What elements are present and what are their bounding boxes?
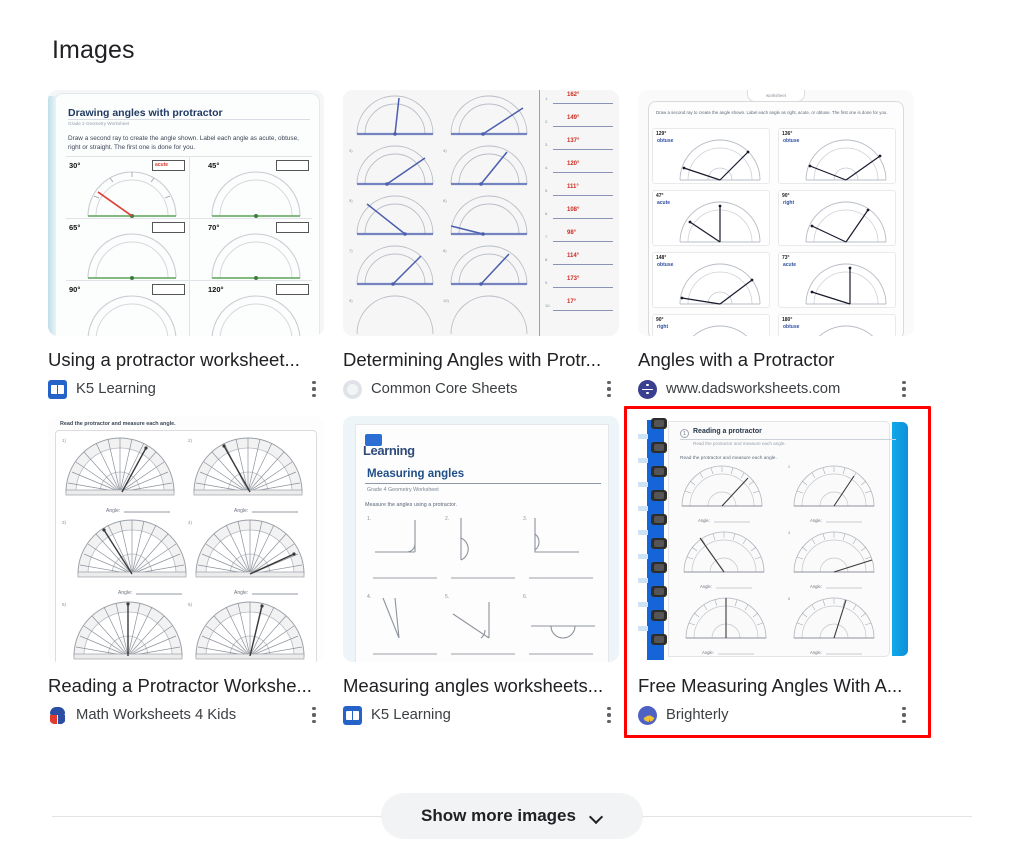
image-card-using-a-protractor-worksheet[interactable]: Drawing angles with protractor Grade 3 G…	[48, 90, 324, 400]
image-title[interactable]: Reading a Protractor Workshe...	[48, 675, 324, 697]
image-card-reading-a-protractor-worksheet[interactable]: Read the protractor and measure each ang…	[48, 416, 324, 726]
image-source-name[interactable]: Math Worksheets 4 Kids	[76, 707, 236, 723]
protractor-figure	[676, 324, 764, 336]
svg-text:5): 5)	[62, 602, 67, 607]
svg-text:5: 5	[680, 596, 681, 601]
thumbnail-heading: Reading a protractor	[693, 428, 762, 435]
image-source-row: Brighterly	[638, 704, 914, 726]
angle-classification: obtuse	[783, 138, 799, 144]
image-card-measuring-angles-worksheets[interactable]: Learning Measuring angles Grade 4 Geomet…	[343, 416, 619, 726]
angle-classification: acute	[783, 262, 796, 268]
show-more-images-button[interactable]: Show more images	[381, 793, 643, 839]
answer-value: 162°	[567, 92, 579, 98]
svg-text:Angle:: Angle:	[702, 650, 714, 655]
image-title[interactable]: Determining Angles with Protr...	[343, 349, 619, 371]
protractor-figure	[802, 262, 890, 306]
exercise-number-badge: 1	[680, 429, 689, 438]
protractor-figure	[802, 324, 890, 336]
more-options-icon[interactable]	[894, 705, 914, 725]
svg-text:3: 3	[680, 530, 681, 535]
angle-label: 136°	[782, 131, 792, 137]
image-source-name[interactable]: K5 Learning	[76, 381, 156, 397]
angle-label: 90°	[782, 193, 790, 199]
image-source-row: Common Core Sheets	[343, 378, 619, 400]
protractor-figure	[676, 138, 764, 182]
protractor-figure	[84, 168, 180, 218]
common-core-sheets-favicon	[343, 380, 362, 399]
answer-value: 108°	[567, 207, 579, 213]
image-thumbnail[interactable]: 3)4) 5)6) 7)8) 9)10) 1. 162°	[343, 90, 619, 336]
show-more-label: Show more images	[421, 806, 576, 826]
answer-value: 17°	[567, 299, 576, 305]
thumbnail-subheading: Grade 3 Geometry Worksheet	[68, 121, 129, 126]
chevron-down-icon	[590, 810, 603, 823]
image-title[interactable]: Using a protractor worksheet...	[48, 349, 324, 371]
protractor-figure	[802, 200, 890, 244]
thumbnail-instructions: Measure the angles using a protractor.	[365, 502, 457, 508]
svg-text:3): 3)	[349, 148, 353, 153]
image-title[interactable]: Measuring angles worksheets...	[343, 675, 619, 697]
math-worksheets-4-kids-favicon	[48, 706, 67, 725]
image-source-name[interactable]: Brighterly	[666, 707, 729, 723]
angle-label: 148°	[656, 255, 666, 261]
angle-label: 129°	[656, 131, 666, 137]
svg-text:Angle:: Angle:	[810, 584, 822, 589]
angle-classification: acute	[657, 200, 670, 206]
image-title[interactable]: Free Measuring Angles With A...	[638, 675, 914, 697]
brighterly-favicon	[638, 706, 657, 725]
svg-text:1.: 1.	[367, 516, 371, 522]
images-results-page: Images Drawing angles with protractor Gr…	[0, 0, 1024, 845]
more-options-icon[interactable]	[304, 705, 324, 725]
svg-text:10): 10)	[443, 298, 449, 303]
angle-classification: right	[657, 324, 668, 330]
image-source-row: Math Worksheets 4 Kids	[48, 704, 324, 726]
show-more-section: Show more images	[0, 793, 1024, 843]
thumbnail-subheading: Read the protractor and measure each ang…	[693, 441, 786, 446]
svg-text:6): 6)	[443, 198, 447, 203]
image-source-name[interactable]: K5 Learning	[371, 707, 451, 723]
thumbnail-heading: Drawing angles with protractor	[68, 107, 223, 119]
k5-learning-favicon	[48, 380, 67, 399]
angle-label: 180°	[782, 317, 792, 323]
answer-value: 98°	[567, 230, 576, 236]
protractor-figure	[208, 230, 304, 280]
image-source-row: K5 Learning	[343, 704, 619, 726]
image-thumbnail[interactable]: worksheet Draw a second ray to create th…	[638, 90, 914, 336]
svg-text:5.: 5.	[445, 594, 449, 600]
svg-text:Angle:: Angle:	[810, 518, 822, 523]
protractor-figures: 3)4) 5)6) 7)8) 9)10)	[347, 92, 537, 336]
svg-text:4: 4	[788, 530, 791, 535]
svg-text:2.: 2.	[445, 516, 449, 522]
angle-label: 73°	[782, 255, 790, 261]
thumbnail-instructions: Read the protractor and measure each ang…	[680, 456, 777, 461]
more-options-icon[interactable]	[599, 379, 619, 399]
svg-text:2): 2)	[188, 438, 193, 443]
protractor-figure	[676, 262, 764, 306]
angle-label: 30°	[69, 161, 80, 170]
angle-classification: obtuse	[783, 324, 799, 330]
angle-label: 47°	[656, 193, 664, 199]
image-thumbnail[interactable]: 1 Reading a protractor Read the protract…	[638, 416, 914, 662]
image-source-name[interactable]: www.dadsworksheets.com	[666, 381, 840, 397]
svg-text:8): 8)	[443, 248, 447, 253]
image-card-free-measuring-angles-with-a-protractor[interactable]: 1 Reading a protractor Read the protract…	[638, 416, 914, 726]
thumbnail-instructions: Draw a second ray to create the angle sh…	[68, 134, 306, 152]
image-source-row: www.dadsworksheets.com	[638, 378, 914, 400]
svg-text:Angle:: Angle:	[118, 590, 132, 596]
protractor-figure	[802, 138, 890, 182]
svg-text:5): 5)	[349, 198, 353, 203]
protractor-figure	[208, 168, 304, 218]
answer-value: 149°	[567, 115, 579, 121]
svg-text:2: 2	[788, 464, 791, 469]
page-title: Images	[52, 36, 135, 65]
image-title[interactable]: Angles with a Protractor	[638, 349, 914, 371]
angle-label: 65°	[69, 223, 80, 232]
image-source-name[interactable]: Common Core Sheets	[371, 381, 517, 397]
thumbnail-subheading: Grade 4 Geometry Worksheet	[367, 487, 439, 493]
more-options-icon[interactable]	[894, 379, 914, 399]
thumbnail-heading: Measuring angles	[367, 468, 464, 480]
angle-label: 90°	[656, 317, 664, 323]
angle-classification: right	[783, 200, 794, 206]
protractor-figure	[208, 292, 304, 336]
answer-value: 173°	[567, 276, 579, 282]
svg-text:6: 6	[788, 596, 791, 601]
thumbnail-instructions: Read the protractor and measure each ang…	[60, 421, 176, 427]
svg-text:Angle:: Angle:	[234, 508, 248, 514]
answer-value: 137°	[567, 138, 579, 144]
svg-text:3.: 3.	[523, 516, 527, 522]
svg-text:4): 4)	[443, 148, 447, 153]
answer-value: 114°	[567, 253, 579, 259]
protractor-figure	[84, 230, 180, 280]
svg-text:6): 6)	[188, 602, 193, 607]
svg-text:4.: 4.	[367, 594, 371, 600]
angle-figures: 1.2.3. 4.5.6. 7.8.9.	[365, 514, 601, 662]
protractor-figure	[84, 292, 180, 336]
k5-learning-favicon	[343, 706, 362, 725]
answer-value: 111°	[567, 184, 579, 190]
image-card-determining-angles-with-protractors[interactable]: 3)4) 5)6) 7)8) 9)10) 1. 162°	[343, 90, 619, 400]
angle-classification: obtuse	[657, 262, 673, 268]
svg-text:Angle:: Angle:	[698, 518, 710, 523]
protractor-figure	[676, 200, 764, 244]
image-source-row: K5 Learning	[48, 378, 324, 400]
protractor-figures: Angle: Angle: Angle:	[62, 436, 312, 662]
svg-text:7): 7)	[349, 248, 353, 253]
svg-text:Angle:: Angle:	[106, 508, 120, 514]
svg-text:9): 9)	[349, 298, 353, 303]
svg-text:1: 1	[680, 464, 681, 469]
thumbnail-logo-text: Learning	[363, 443, 415, 458]
svg-text:3): 3)	[62, 520, 67, 525]
image-results-grid: Drawing angles with protractor Grade 3 G…	[48, 90, 956, 726]
answer-key-column: 1. 162° 2. 149° 3. 137°	[545, 90, 615, 336]
svg-text:4): 4)	[188, 520, 193, 525]
dadsworksheets-favicon	[638, 380, 657, 399]
thumbnail-instructions: Draw a second ray to create the angle sh…	[656, 110, 896, 117]
svg-text:Angle:: Angle:	[234, 590, 248, 596]
svg-text:1): 1)	[62, 438, 67, 443]
image-thumbnail[interactable]: Drawing angles with protractor Grade 3 G…	[48, 90, 324, 336]
image-card-angles-with-a-protractor[interactable]: worksheet Draw a second ray to create th…	[638, 90, 914, 400]
svg-text:Angle:: Angle:	[810, 650, 822, 655]
protractor-figures: Angle: Angle: Angle: Angle:	[680, 464, 886, 662]
image-thumbnail[interactable]: Read the protractor and measure each ang…	[48, 416, 324, 662]
answer-value: 120°	[567, 161, 579, 167]
angle-classification: obtuse	[657, 138, 673, 144]
svg-text:Angle:: Angle:	[700, 584, 712, 589]
angle-label: 90°	[69, 285, 80, 294]
more-options-icon[interactable]	[304, 379, 324, 399]
svg-text:6.: 6.	[523, 594, 527, 600]
more-options-icon[interactable]	[599, 705, 619, 725]
image-thumbnail[interactable]: Learning Measuring angles Grade 4 Geomet…	[343, 416, 619, 662]
